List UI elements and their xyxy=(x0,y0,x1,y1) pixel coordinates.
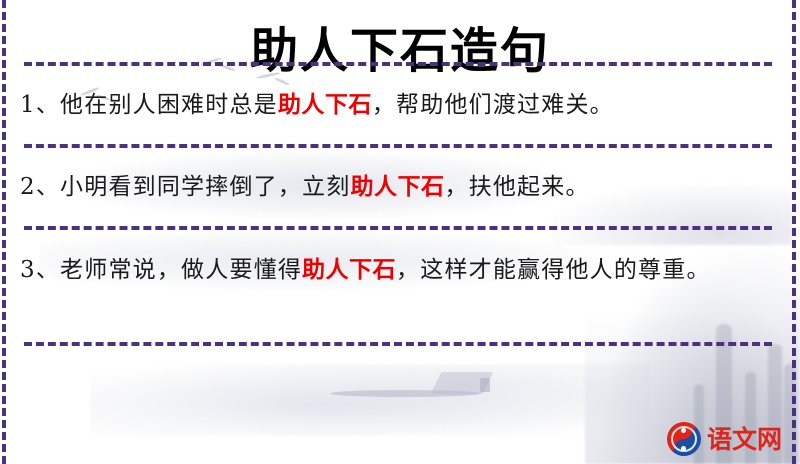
sentence-row-2: 2、小明看到同学摔倒了，立刻助人下石，扶他起来。 xyxy=(0,148,800,226)
sentence-after-2: ，扶他起来。 xyxy=(444,174,589,200)
sentence-number-2: 2、 xyxy=(20,174,60,200)
water-watermark xyxy=(90,364,650,436)
sentence-before-1: 他在别人困难时总是 xyxy=(60,92,278,118)
right-dashed-border xyxy=(792,0,796,464)
page-title: 助人下石造句 xyxy=(0,0,800,62)
site-logo: 语文网 xyxy=(667,422,782,456)
dashed-separator-1 xyxy=(24,62,772,66)
sentence-after-1: ，帮助他们渡过难关。 xyxy=(372,92,614,118)
sentence-text-1: 1、他在别人困难时总是助人下石，帮助他们渡过难关。 xyxy=(20,83,614,127)
dashed-separator-2 xyxy=(24,144,772,148)
yin-yang-circle-icon xyxy=(667,422,701,456)
sentence-before-3: 老师常说，做人要懂得 xyxy=(60,257,302,283)
sentence-number-3: 3、 xyxy=(20,257,60,283)
sentence-row-3: 3、老师常说，做人要懂得助人下石，这样才能赢得他人的尊重。 xyxy=(0,230,800,342)
sentence-worksheet-page: 助人下石造句 1、他在别人困难时总是助人下石，帮助他们渡过难关。 2、小明看到同… xyxy=(0,0,800,464)
sentence-highlight-2: 助人下石 xyxy=(350,173,444,200)
sentence-before-2: 小明看到同学摔倒了，立刻 xyxy=(60,174,350,200)
sentence-text-2: 2、小明看到同学摔倒了，立刻助人下石，扶他起来。 xyxy=(20,165,590,209)
sentence-row-1: 1、他在别人困难时总是助人下石，帮助他们渡过难关。 xyxy=(0,66,800,144)
left-dashed-border xyxy=(2,0,6,464)
site-logo-text: 语文网 xyxy=(707,427,782,452)
sentence-after-3: ，这样才能赢得他人的尊重。 xyxy=(396,257,711,283)
sentence-highlight-1: 助人下石 xyxy=(278,91,372,118)
dashed-separator-3 xyxy=(24,226,772,230)
boat-watermark xyxy=(330,372,540,406)
sentence-list: 1、他在别人困难时总是助人下石，帮助他们渡过难关。 2、小明看到同学摔倒了，立刻… xyxy=(0,66,800,346)
sentence-text-3: 3、老师常说，做人要懂得助人下石，这样才能赢得他人的尊重。 xyxy=(20,248,711,292)
sentence-number-1: 1、 xyxy=(20,92,60,118)
dashed-separator-4 xyxy=(24,342,772,346)
logo-inner-ring xyxy=(671,426,697,452)
sentence-highlight-3: 助人下石 xyxy=(302,256,396,283)
